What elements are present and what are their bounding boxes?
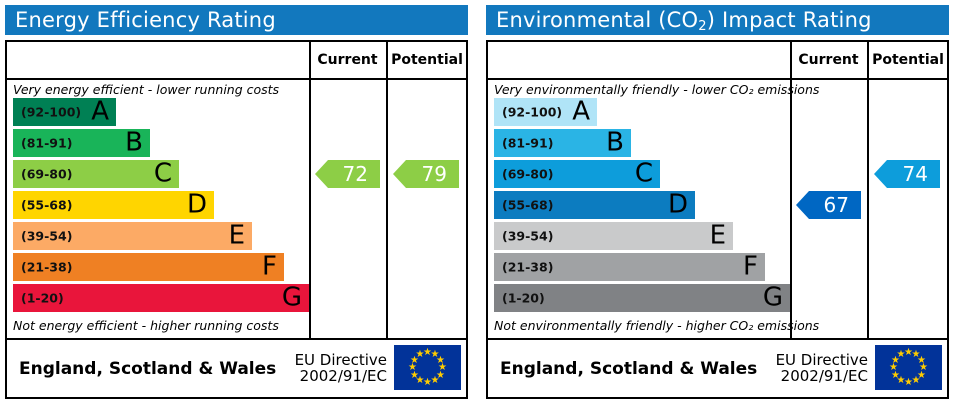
table-header-row: CurrentPotential — [7, 42, 466, 78]
band-letter-e: E — [710, 222, 726, 248]
eu-flag-star: ★ — [897, 350, 906, 359]
band-letter-g: G — [763, 284, 783, 310]
caption-top: Very environmentally friendly - lower CO… — [494, 82, 819, 97]
band-letter-b: B — [125, 129, 143, 155]
rating-band-d: (55-68)D — [13, 191, 214, 219]
epc-chart-container: Energy Efficiency RatingCurrentPotential… — [0, 0, 957, 404]
rating-band-f: (21-38)F — [13, 253, 284, 281]
eu-flag-star: ★ — [416, 350, 425, 359]
rating-bars-co2: (92-100)A(81-91)B(69-80)C(55-68)D(39-54)… — [494, 98, 790, 314]
footer-band-energy: England, Scotland & WalesEU Directive200… — [5, 340, 468, 399]
column-header-current: Current — [309, 42, 386, 78]
band-range-f: (21-38) — [502, 260, 553, 275]
rating-band-g: (1-20)G — [494, 284, 790, 312]
panel-co2: Environmental (CO2) Impact RatingCurrent… — [481, 0, 955, 404]
band-range-g: (1-20) — [502, 291, 545, 306]
header-divider — [488, 78, 947, 80]
band-range-a: (92-100) — [21, 105, 81, 120]
band-letter-c: C — [154, 160, 172, 186]
column-header-current: Current — [790, 42, 867, 78]
band-range-c: (69-80) — [502, 167, 553, 182]
footer-region-label: England, Scotland & Wales — [500, 359, 757, 379]
column-header-potential: Potential — [869, 42, 947, 78]
band-range-g: (1-20) — [21, 291, 64, 306]
band-letter-f: F — [262, 253, 277, 279]
footer-band-co2: England, Scotland & WalesEU Directive200… — [486, 340, 949, 399]
band-range-b: (81-91) — [21, 136, 72, 151]
header-divider — [7, 78, 466, 80]
rating-band-e: (39-54)E — [494, 222, 733, 250]
rating-band-e: (39-54)E — [13, 222, 252, 250]
band-range-d: (55-68) — [502, 198, 553, 213]
footer-directive-label: EU Directive2002/91/EC — [776, 352, 868, 386]
band-letter-e: E — [229, 222, 245, 248]
rating-band-c: (69-80)C — [494, 160, 660, 188]
band-range-b: (81-91) — [502, 136, 553, 151]
column-rule-potential — [867, 42, 869, 338]
rating-band-b: (81-91)B — [13, 129, 150, 157]
band-range-e: (39-54) — [502, 229, 553, 244]
eu-flag-icon: ★★★★★★★★★★★★ — [394, 345, 461, 390]
panel-energy: Energy Efficiency RatingCurrentPotential… — [0, 0, 474, 404]
rating-band-c: (69-80)C — [13, 160, 179, 188]
rating-bars-energy: (92-100)A(81-91)B(69-80)C(55-68)D(39-54)… — [13, 98, 309, 314]
rating-band-a: (92-100)A — [13, 98, 116, 126]
panel-title-co2: Environmental (CO2) Impact Rating — [486, 5, 949, 35]
panel-title-energy: Energy Efficiency Rating — [5, 5, 468, 35]
band-range-f: (21-38) — [21, 260, 72, 275]
band-letter-c: C — [635, 160, 653, 186]
rating-band-a: (92-100)A — [494, 98, 597, 126]
caption-bottom: Not energy efficient - higher running co… — [13, 318, 279, 333]
current-rating-arrow: 72 — [315, 160, 380, 188]
footer-directive-label: EU Directive2002/91/EC — [295, 352, 387, 386]
potential-rating-arrow: 79 — [393, 160, 459, 188]
band-range-d: (55-68) — [21, 198, 72, 213]
band-letter-d: D — [187, 191, 207, 217]
column-rule-potential — [386, 42, 388, 338]
caption-bottom: Not environmentally friendly - higher CO… — [494, 318, 819, 333]
band-letter-a: A — [91, 98, 109, 124]
current-rating-arrow: 67 — [796, 191, 861, 219]
band-range-c: (69-80) — [21, 167, 72, 182]
rating-band-f: (21-38)F — [494, 253, 765, 281]
caption-top: Very energy efficient - lower running co… — [13, 82, 279, 97]
rating-table-energy: CurrentPotentialVery energy efficient - … — [5, 40, 468, 340]
rating-table-co2: CurrentPotentialVery environmentally fri… — [486, 40, 949, 340]
potential-rating-arrow: 74 — [874, 160, 940, 188]
band-letter-d: D — [668, 191, 688, 217]
band-range-e: (39-54) — [21, 229, 72, 244]
footer-region-label: England, Scotland & Wales — [19, 359, 276, 379]
column-rule-current — [309, 42, 311, 338]
band-range-a: (92-100) — [502, 105, 562, 120]
band-letter-a: A — [572, 98, 590, 124]
rating-band-b: (81-91)B — [494, 129, 631, 157]
band-letter-f: F — [743, 253, 758, 279]
band-letter-g: G — [282, 284, 302, 310]
table-header-row: CurrentPotential — [488, 42, 947, 78]
rating-band-d: (55-68)D — [494, 191, 695, 219]
column-header-potential: Potential — [388, 42, 466, 78]
eu-flag-icon: ★★★★★★★★★★★★ — [875, 345, 942, 390]
band-letter-b: B — [606, 129, 624, 155]
rating-band-g: (1-20)G — [13, 284, 309, 312]
